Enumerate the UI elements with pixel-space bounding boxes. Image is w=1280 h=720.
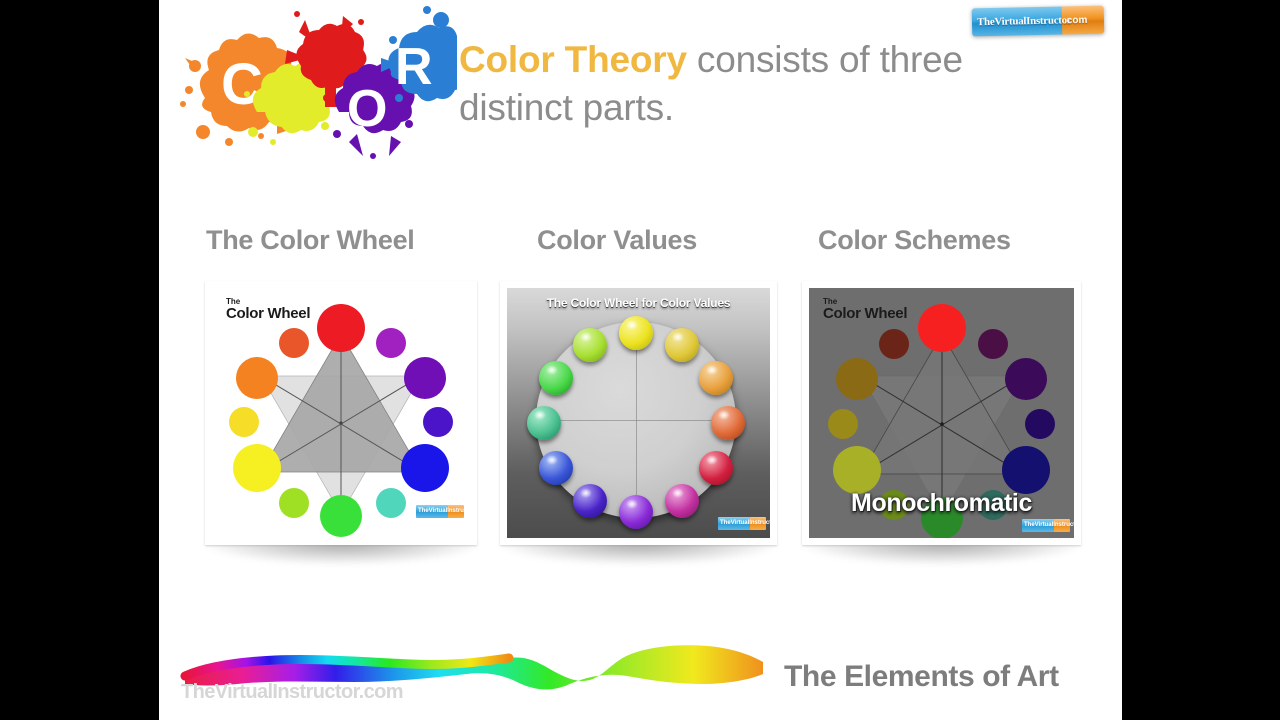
section-heading-color-schemes: Color Schemes — [818, 225, 1011, 256]
value-ball-violet — [619, 495, 653, 529]
headline-accent: Color Theory — [459, 39, 687, 80]
footer-url[interactable]: TheVirtualInstructor.com — [181, 681, 403, 704]
card-title-main: Color Wheel — [226, 306, 310, 322]
value-ball-yellow-green — [573, 328, 607, 362]
svg-text:O: O — [347, 80, 387, 138]
card-virtual-instructor-badge[interactable]: TheVirtualInstructor — [416, 505, 464, 518]
color-splatter-logo: C O — [177, 6, 457, 166]
slide-stage: TheVirtualInstructor .com C — [0, 0, 1280, 720]
card-color-schemes[interactable]: The Color Wheel — [802, 281, 1081, 545]
value-ball-yellow-orange — [665, 328, 699, 362]
card-virtual-instructor-badge[interactable]: TheVirtualInstructor — [718, 517, 766, 530]
value-ball-red-orange — [711, 406, 745, 440]
value-ball-blue — [539, 451, 573, 485]
value-ball-blue-green — [527, 406, 561, 440]
card-color-values[interactable]: The Color Wheel for Color Values — [500, 281, 777, 545]
mini-badge-text: TheVirtualInstructor — [418, 507, 470, 516]
value-ball-yellow — [619, 316, 653, 350]
color-wheel-diagram: The Color Wheel — [212, 288, 470, 538]
card-title-color-values: The Color Wheel for Color Values — [507, 296, 770, 310]
value-ball-red — [699, 451, 733, 485]
value-ball-blue-violet — [573, 484, 607, 518]
card-shadow — [203, 543, 481, 565]
value-ball-orange — [699, 361, 733, 395]
value-ball-red-violet — [665, 484, 699, 518]
section-heading-color-wheel: The Color Wheel — [206, 225, 415, 256]
value-disc — [536, 322, 736, 518]
card-title-color-wheel-mono: The Color Wheel — [823, 298, 907, 322]
mini-badge-text: TheVirtualInstructor — [1024, 521, 1074, 530]
section-heading-color-values: Color Values — [537, 225, 697, 256]
svg-text:O: O — [263, 78, 305, 138]
wheel-graphic — [212, 288, 470, 538]
color-values-diagram: The Color Wheel for Color Values — [507, 288, 770, 538]
footer-title: The Elements of Art — [784, 660, 1059, 694]
card-shadow — [498, 543, 780, 565]
card-shadow — [800, 543, 1084, 565]
page-title: Color Theory consists of three distinct … — [459, 36, 1059, 132]
svg-text:R: R — [395, 38, 433, 96]
badge-secondary-text: .com — [1064, 13, 1104, 29]
card-color-wheel[interactable]: The Color Wheel — [205, 281, 477, 545]
card-title-main: Color Wheel — [823, 306, 907, 322]
value-ball-green — [539, 361, 573, 395]
monochromatic-label: Monochromatic — [809, 489, 1074, 518]
card-title-color-wheel: The Color Wheel — [226, 298, 310, 322]
card-virtual-instructor-badge[interactable]: TheVirtualInstructor — [1022, 519, 1070, 532]
virtual-instructor-badge[interactable]: TheVirtualInstructor .com — [972, 6, 1105, 39]
disc-horizontal-axis — [540, 420, 732, 421]
slide-canvas: TheVirtualInstructor .com C — [159, 0, 1122, 720]
color-schemes-diagram: The Color Wheel — [809, 288, 1074, 538]
badge-primary-text: TheVirtualInstructor — [977, 12, 1061, 32]
mini-badge-text: TheVirtualInstructor — [720, 519, 770, 528]
